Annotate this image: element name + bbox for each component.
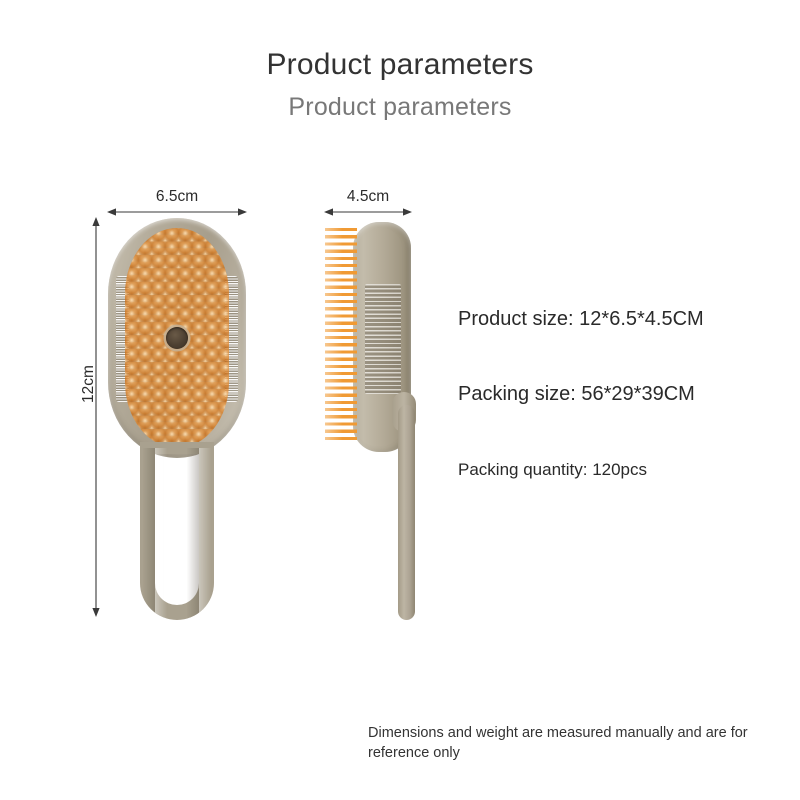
- depth-dimension-label: 4.5cm: [325, 188, 411, 206]
- width-dimension-arrow: [104, 205, 250, 219]
- brush-side-bristles: [325, 228, 357, 444]
- page-title: Product parameters: [0, 48, 800, 82]
- product-parameters-page: Product parameters Product parameters 6.…: [0, 0, 800, 800]
- height-dimension-arrow: [89, 214, 103, 620]
- brush-side-ridges: [365, 284, 401, 394]
- spec-packing-size: Packing size: 56*29*39CM: [458, 383, 695, 406]
- brush-silicone-pad: [125, 228, 229, 448]
- spec-packing-quantity: Packing quantity: 120pcs: [458, 460, 647, 480]
- center-spray-hole: [166, 327, 188, 349]
- page-subtitle: Product parameters: [0, 93, 800, 122]
- brush-front-view: [108, 218, 246, 458]
- brush-handle-loop: [140, 448, 214, 620]
- depth-dimension-arrow: [321, 205, 415, 219]
- measurement-disclaimer: Dimensions and weight are measured manua…: [368, 724, 768, 763]
- brush-side-handle: [398, 405, 415, 620]
- spec-product-size: Product size: 12*6.5*4.5CM: [458, 308, 704, 331]
- width-dimension-label: 6.5cm: [108, 188, 246, 206]
